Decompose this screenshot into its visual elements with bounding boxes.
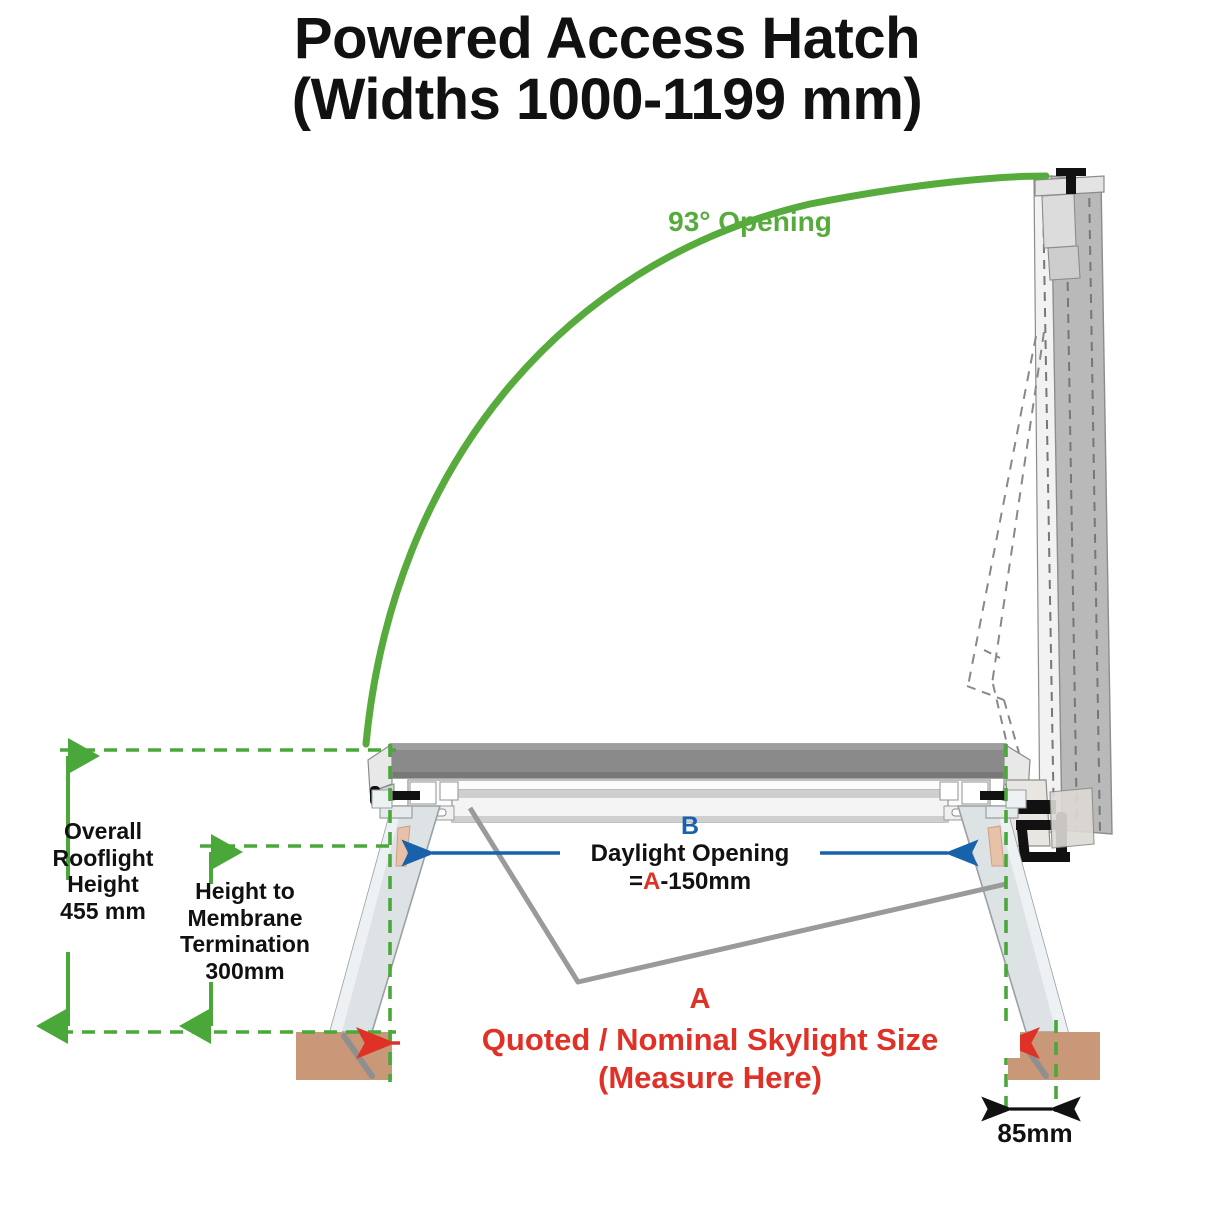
opening-angle-label: 93° Opening — [600, 206, 900, 238]
formula-suffix: -150mm — [660, 868, 751, 895]
hatch-frame-assembly — [368, 744, 1030, 822]
timber-deck-right — [1008, 1032, 1100, 1080]
timber-deck-left — [296, 1032, 392, 1080]
diagram-canvas: Powered Access Hatch (Widths 1000-1199 m… — [0, 0, 1214, 1214]
opened-hatch-lid — [967, 168, 1112, 834]
kerb-width-label: 85mm — [955, 1118, 1115, 1148]
dimension-a-letter: A — [610, 983, 790, 1017]
formula-prefix: = — [629, 868, 643, 895]
formula-letter-a: A — [643, 868, 660, 895]
opening-arc — [366, 176, 1046, 744]
quoted-size-label: Quoted / Nominal Skylight Size — [400, 1022, 1020, 1058]
daylight-formula-label: =A-150mm — [590, 868, 790, 896]
measure-here-label: (Measure Here) — [430, 1060, 990, 1096]
daylight-opening-label: Daylight Opening — [560, 840, 820, 868]
membrane-height-label: Height to Membrane Termination 300mm — [140, 878, 350, 985]
dimension-b-letter: B — [600, 812, 780, 841]
